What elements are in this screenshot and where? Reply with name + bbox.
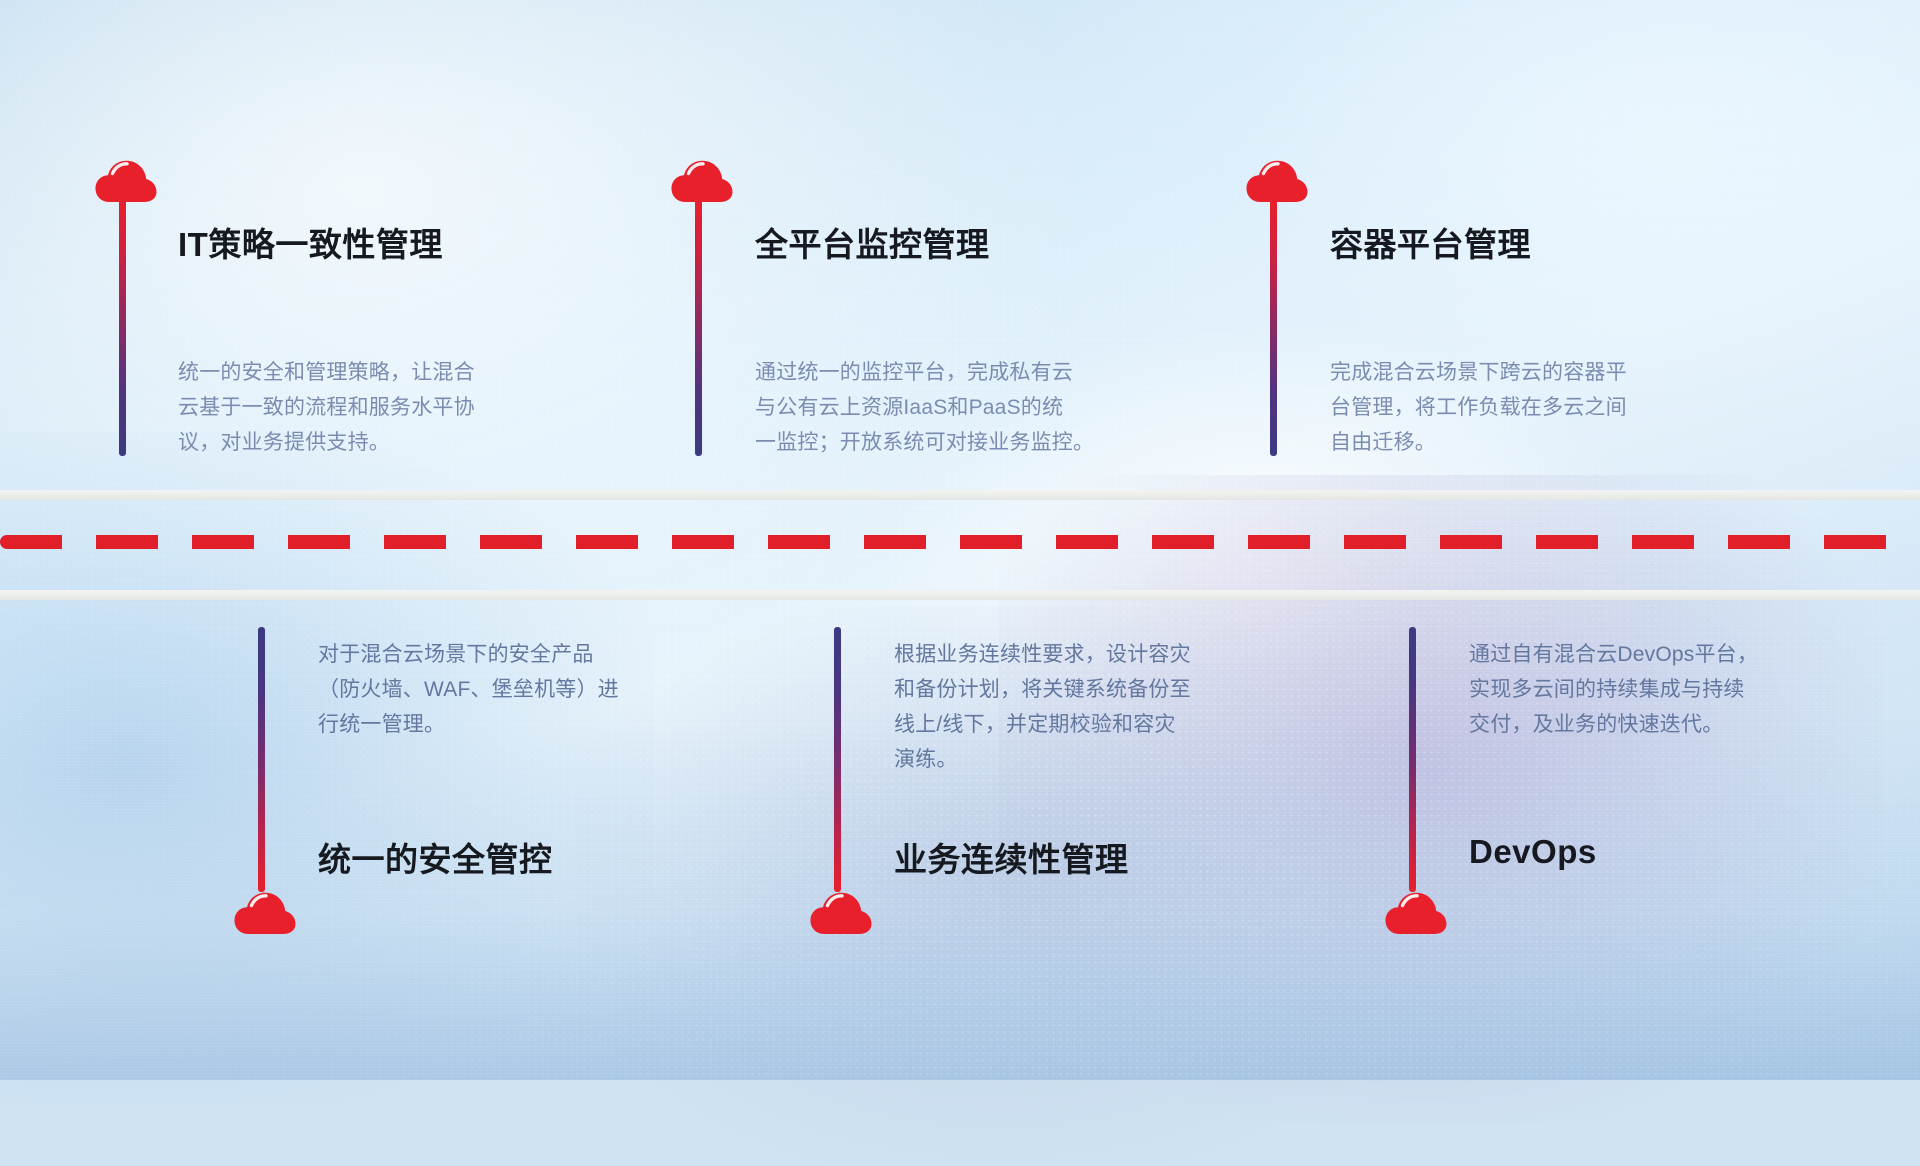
feature-description: 根据业务连续性要求，设计容灾 和备份计划，将关键系统备份至 线上/线下，并定期校… [894,637,1324,777]
feature-description: 通过统一的监控平台，完成私有云 与公有云上资源IaaS和PaaS的统 一监控；开… [755,355,1185,460]
description-line: 云基于一致的流程和服务水平协 [178,390,608,425]
description-line: 统一的安全和管理策略，让混合 [178,355,608,390]
cloud-icon [1246,160,1308,204]
description-line: 一监控；开放系统可对接业务监控。 [755,425,1185,460]
connector-stem [258,627,265,892]
road-dashed-centerline [0,535,1920,549]
description-line: 演练。 [894,742,1324,777]
feature-title: 业务连续性管理 [894,833,1129,881]
description-line: 根据业务连续性要求，设计容灾 [894,637,1324,672]
cloud-icon [234,892,296,936]
description-line: 行统一管理。 [318,707,748,742]
feature-title: 统一的安全管控 [318,833,553,881]
description-line: 对于混合云场景下的安全产品 [318,637,748,672]
description-line: 议，对业务提供支持。 [178,425,608,460]
cloud-icon [810,892,872,936]
feature-description: 统一的安全和管理策略，让混合 云基于一致的流程和服务水平协 议，对业务提供支持。 [178,355,608,460]
cloud-icon [671,160,733,204]
description-line: 完成混合云场景下跨云的容器平 [1330,355,1760,390]
connector-stem [1409,627,1416,892]
connector-stem [695,198,702,456]
feature-description: 完成混合云场景下跨云的容器平 台管理，将工作负载在多云之间 自由迁移。 [1330,355,1760,460]
description-line: 线上/线下，并定期校验和容灾 [894,707,1324,742]
feature-description: 通过自有混合云DevOps平台， 实现多云间的持续集成与持续 交付，及业务的快速… [1469,637,1899,742]
cloud-icon [95,160,157,204]
description-line: 自由迁移。 [1330,425,1760,460]
cloud-icon [1385,892,1447,936]
connector-stem [119,198,126,456]
description-line: 台管理，将工作负载在多云之间 [1330,390,1760,425]
road-stripe-lower [0,590,1920,600]
connector-stem [834,627,841,892]
feature-title: 全平台监控管理 [755,218,990,266]
feature-title: DevOps [1469,833,1597,871]
description-line: 与公有云上资源IaaS和PaaS的统 [755,390,1185,425]
description-line: 交付，及业务的快速迭代。 [1469,707,1899,742]
description-line: 通过统一的监控平台，完成私有云 [755,355,1185,390]
road-stripe-upper [0,490,1920,500]
description-line: 实现多云间的持续集成与持续 [1469,672,1899,707]
description-line: 和备份计划，将关键系统备份至 [894,672,1324,707]
road-dash-segments [0,535,1920,549]
road-divider [0,490,1920,600]
connector-stem [1270,198,1277,456]
feature-description: 对于混合云场景下的安全产品 （防火墙、WAF、堡垒机等）进 行统一管理。 [318,637,748,742]
description-line: 通过自有混合云DevOps平台， [1469,637,1899,672]
feature-title: 容器平台管理 [1330,218,1531,266]
description-line: （防火墙、WAF、堡垒机等）进 [318,672,748,707]
feature-title: IT策略一致性管理 [178,218,443,266]
